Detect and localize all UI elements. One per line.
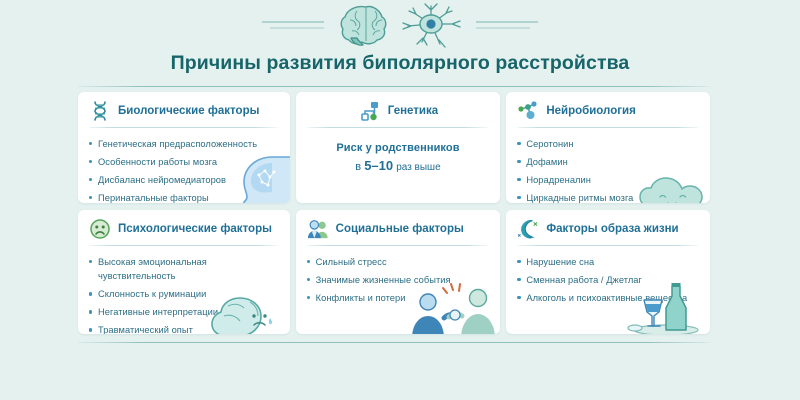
genetics-stat-block: Риск у родственников в 5–10 раз выше [296,128,501,173]
list-item: Дофамин [526,155,700,169]
card-genetics[interactable]: Генетика Риск у родственников в 5–10 раз… [296,92,501,203]
decorative-lines-right-icon [468,15,538,37]
list-item: Травматический опыт [98,323,280,334]
list-item: Дисбаланс нейромедиаторов [98,173,280,187]
neuron-icon [400,2,462,50]
page-title: Причины развития биполярного расстройств… [0,52,800,75]
card-title: Генетика [388,105,438,117]
brain-icon [338,3,394,49]
card-header: Факторы образа жизни [506,210,710,245]
card-header: Социальные факторы [296,210,501,245]
list-item: Сменная работа / Джетлаг [526,273,700,287]
genetics-stat-value-line: в 5–10 раз выше [306,158,491,173]
genetics-stat-prefix: в [355,161,361,173]
infographic-canvas: Причины развития биполярного расстройств… [0,0,800,400]
list-item: Особенности работы мозга [98,155,280,169]
divider-top [78,86,710,87]
card-header: Генетика [296,92,501,127]
decorative-lines-left-icon [262,15,332,37]
list-item: Негативные интерпретации событий [98,305,280,319]
card-title: Биологические факторы [118,105,259,117]
crescent-moon-icon [517,218,539,240]
card-header: Биологические факторы [78,92,290,127]
card-bullet-list: Серотонин Дофамин Норадреналин Циркадные… [506,128,710,203]
list-item: Конфликты и потери [316,291,491,305]
list-item: Сильный стресс [316,255,491,269]
genetics-stat-suffix: раз выше [396,162,440,173]
list-item: Алкоголь и психоактивные вещества [526,291,700,305]
family-tree-icon [359,100,381,122]
card-title: Нейробиология [546,105,635,117]
card-bullet-list: Нарушение сна Сменная работа / Джетлаг А… [506,246,710,305]
card-lifestyle[interactable]: Факторы образа жизни Нарушение сна Сменн… [506,210,710,334]
genetics-stat-value: 5–10 [364,158,393,173]
list-item: Норадреналин [526,173,700,187]
cards-row-bottom: Психологические факторы Высокая эмоциона… [78,210,710,334]
card-bullet-list: Генетическая предрасположенность Особенн… [78,128,290,203]
list-item: Серотонин [526,137,700,151]
card-psychological[interactable]: Психологические факторы Высокая эмоциона… [78,210,290,334]
cards-grid: Биологические факторы Генетическая предр… [78,92,710,334]
divider-bottom [78,342,710,343]
molecule-icon [517,100,539,122]
card-bullet-list: Сильный стресс Значимые жизненные событи… [296,246,501,305]
sad-face-icon [89,218,111,240]
card-biological[interactable]: Биологические факторы Генетическая предр… [78,92,290,203]
card-title: Факторы образа жизни [546,223,678,235]
card-social[interactable]: Социальные факторы Сильный стресс Значим… [296,210,501,334]
list-item: Значимые жизненные события [316,273,491,287]
list-item: Высокая эмоциональная чувствительность [98,255,280,284]
card-title: Социальные факторы [336,223,464,235]
list-item: Перинатальные факторы [98,191,280,203]
list-item: Циркадные ритмы мозга [526,191,700,203]
card-header: Психологические факторы [78,210,290,245]
card-title: Психологические факторы [118,223,272,235]
dna-icon [89,100,111,122]
card-header: Нейробиология [506,92,710,127]
cards-row-top: Биологические факторы Генетическая предр… [78,92,710,203]
header-illustration-row [0,2,800,50]
two-people-icon [307,218,329,240]
list-item: Склонность к руминации [98,287,280,301]
list-item: Нарушение сна [526,255,700,269]
card-bullet-list: Высокая эмоциональная чувствительность С… [78,246,290,334]
list-item: Генетическая предрасположенность [98,137,280,151]
genetics-stat-caption: Риск у родственников [306,142,491,154]
header: Причины развития биполярного расстройств… [0,0,800,86]
card-neurobiology[interactable]: Нейробиология Серотонин Дофамин Норадрен… [506,92,710,203]
